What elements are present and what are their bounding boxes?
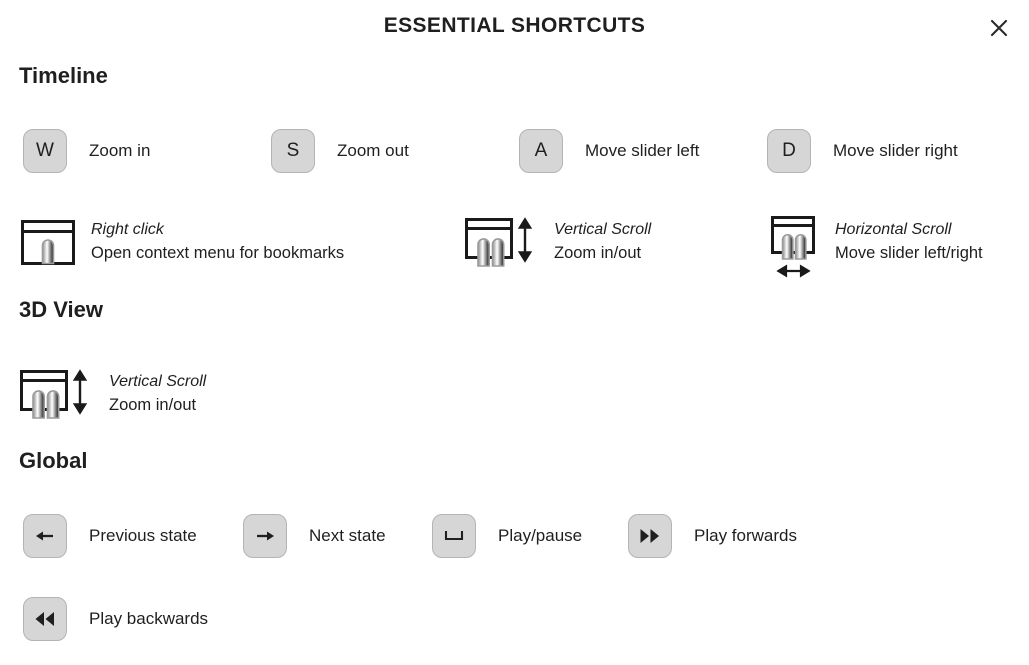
mouse-description: Zoom in/out [109,394,206,417]
shortcut-entry-zoom-in: W Zoom in [23,123,150,179]
shortcut-entry-right-click: Right click Open context menu for bookma… [19,214,344,270]
arrow-right-icon [253,524,277,548]
shortcut-entry-play-forwards: Play forwards [628,508,797,564]
close-button[interactable] [983,12,1015,44]
section-heading-global: Global [19,448,87,474]
shortcut-entry-next-state: Next state [243,508,386,564]
shortcut-entry-play-pause: Play/pause [432,508,582,564]
mouse-vertical-scroll-icon [464,214,540,270]
rewind-icon [32,608,58,630]
keycap-spacebar[interactable] [432,514,476,558]
mouse-action: Vertical Scroll [554,219,651,242]
mouse-text-block: Horizontal Scroll Move slider left/right [835,219,983,265]
mouse-action: Vertical Scroll [109,371,206,394]
shortcut-entry-vertical-scroll: Vertical Scroll Zoom in/out [464,214,651,270]
keycap-a[interactable]: A [519,129,563,173]
shortcut-label: Move slider right [833,141,958,161]
mouse-description: Zoom in/out [554,242,651,265]
spacebar-icon [441,524,467,548]
dialog-header: ESSENTIAL SHORTCUTS [0,0,1029,56]
fast-forward-icon [637,525,663,547]
keycap-label: S [287,140,300,162]
shortcut-label: Zoom in [89,141,150,161]
shortcut-label: Zoom out [337,141,409,161]
shortcut-entry-move-slider-left: A Move slider left [519,123,699,179]
mouse-description: Move slider left/right [835,242,983,265]
section-heading-3d-view: 3D View [19,297,103,323]
keycap-label: A [535,140,548,162]
keycap-s[interactable]: S [271,129,315,173]
keycap-label: D [782,140,796,162]
keycap-arrow-left[interactable] [23,514,67,558]
keycap-label: W [36,140,54,162]
mouse-description: Open context menu for bookmarks [91,242,344,265]
keycap-rewind[interactable] [23,597,67,641]
mouse-right-click-icon [19,214,77,270]
page-title: ESSENTIAL SHORTCUTS [0,14,1029,38]
keycap-fast-forward[interactable] [628,514,672,558]
shortcut-label: Next state [309,526,386,546]
shortcut-entry-horizontal-scroll: Horizontal Scroll Move slider left/right [769,214,983,270]
global-key-row-1: Previous state Next state Play/pause [0,508,1029,564]
shortcut-label: Play/pause [498,526,582,546]
mouse-text-block: Vertical Scroll Zoom in/out [109,371,206,417]
mouse-text-block: Vertical Scroll Zoom in/out [554,219,651,265]
global-key-row-2: Play backwards [0,591,1029,647]
shortcut-entry-3d-vertical-scroll: Vertical Scroll Zoom in/out [19,366,206,422]
mouse-text-block: Right click Open context menu for bookma… [91,219,344,265]
mouse-vertical-scroll-icon [19,366,95,422]
mouse-horizontal-scroll-icon [769,214,821,286]
mouse-action: Horizontal Scroll [835,219,983,242]
shortcut-label: Play forwards [694,526,797,546]
shortcut-entry-play-backwards: Play backwards [23,591,208,647]
shortcut-entry-zoom-out: S Zoom out [271,123,409,179]
shortcut-label: Move slider left [585,141,699,161]
close-icon [989,18,1009,38]
section-heading-timeline: Timeline [19,63,108,89]
shortcut-label: Previous state [89,526,197,546]
keycap-arrow-right[interactable] [243,514,287,558]
shortcut-label: Play backwards [89,609,208,629]
shortcut-entry-previous-state: Previous state [23,508,197,564]
shortcut-entry-move-slider-right: D Move slider right [767,123,958,179]
timeline-key-row: W Zoom in S Zoom out A Move slider left … [0,123,1029,179]
keycap-w[interactable]: W [23,129,67,173]
timeline-mouse-row: Right click Open context menu for bookma… [0,214,1029,270]
arrow-left-icon [33,524,57,548]
mouse-action: Right click [91,219,344,242]
threed-mouse-row: Vertical Scroll Zoom in/out [0,366,1029,422]
keycap-d[interactable]: D [767,129,811,173]
